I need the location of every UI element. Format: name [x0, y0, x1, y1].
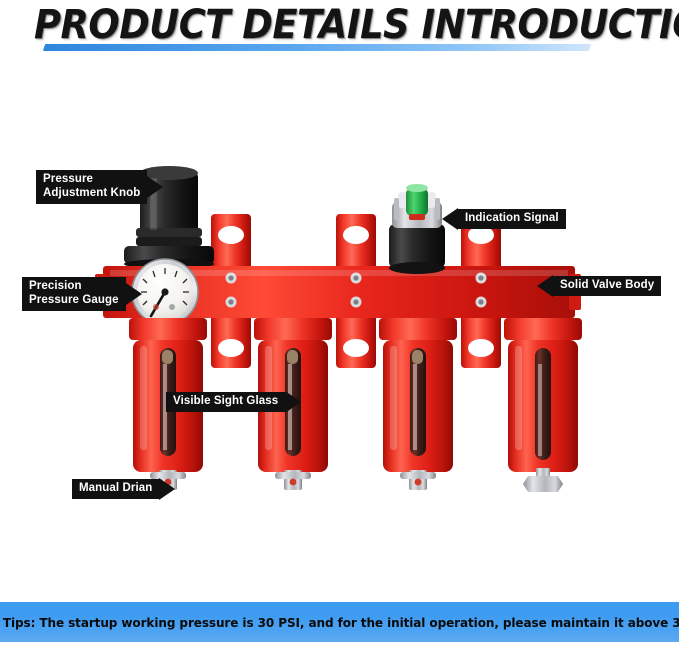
precision-pressure-gauge [132, 259, 198, 325]
manual-drain-valve [400, 470, 436, 490]
callout-precision-pressure-gauge: Precision Pressure Gauge [22, 277, 142, 311]
bowl-4 [504, 318, 582, 492]
callout-label: Precision Pressure Gauge [22, 277, 126, 311]
callout-manual-drain: Manual Drian [72, 478, 175, 500]
callout-label: Visible Sight Glass [166, 392, 285, 413]
arrow-left-icon [537, 275, 553, 297]
callout-label: Manual Drian [72, 479, 159, 500]
callout-label: Pressure Adjustment Knob [36, 170, 147, 204]
tips-banner: Tips: The startup working pressure is 30… [0, 602, 679, 642]
product-details-page: PRODUCT DETAILS INTRODUCTION [0, 0, 679, 650]
arrow-right-icon [126, 283, 142, 305]
arrow-right-icon [147, 176, 163, 198]
callout-visible-sight-glass: Visible Sight Glass [166, 391, 301, 413]
callout-solid-valve-body: Solid Valve Body [537, 275, 661, 297]
page-header: PRODUCT DETAILS INTRODUCTION [0, 0, 679, 62]
frl-unit-diagram [0, 150, 679, 530]
arrow-left-icon [442, 208, 458, 230]
bowl-3 [379, 318, 457, 490]
callout-pressure-adjustment-knob: Pressure Adjustment Knob [36, 170, 163, 204]
callout-label: Indication Signal [458, 209, 566, 230]
arrow-right-icon [159, 478, 175, 500]
indication-signal [389, 184, 445, 274]
manual-drain-valve [275, 470, 311, 490]
product-illustration [0, 150, 679, 530]
callout-indication-signal: Indication Signal [442, 208, 566, 230]
page-title: PRODUCT DETAILS INTRODUCTION [34, 2, 604, 50]
callout-label: Solid Valve Body [553, 276, 661, 297]
tips-text: Tips: The startup working pressure is 30… [0, 615, 679, 630]
arrow-right-icon [285, 391, 301, 413]
